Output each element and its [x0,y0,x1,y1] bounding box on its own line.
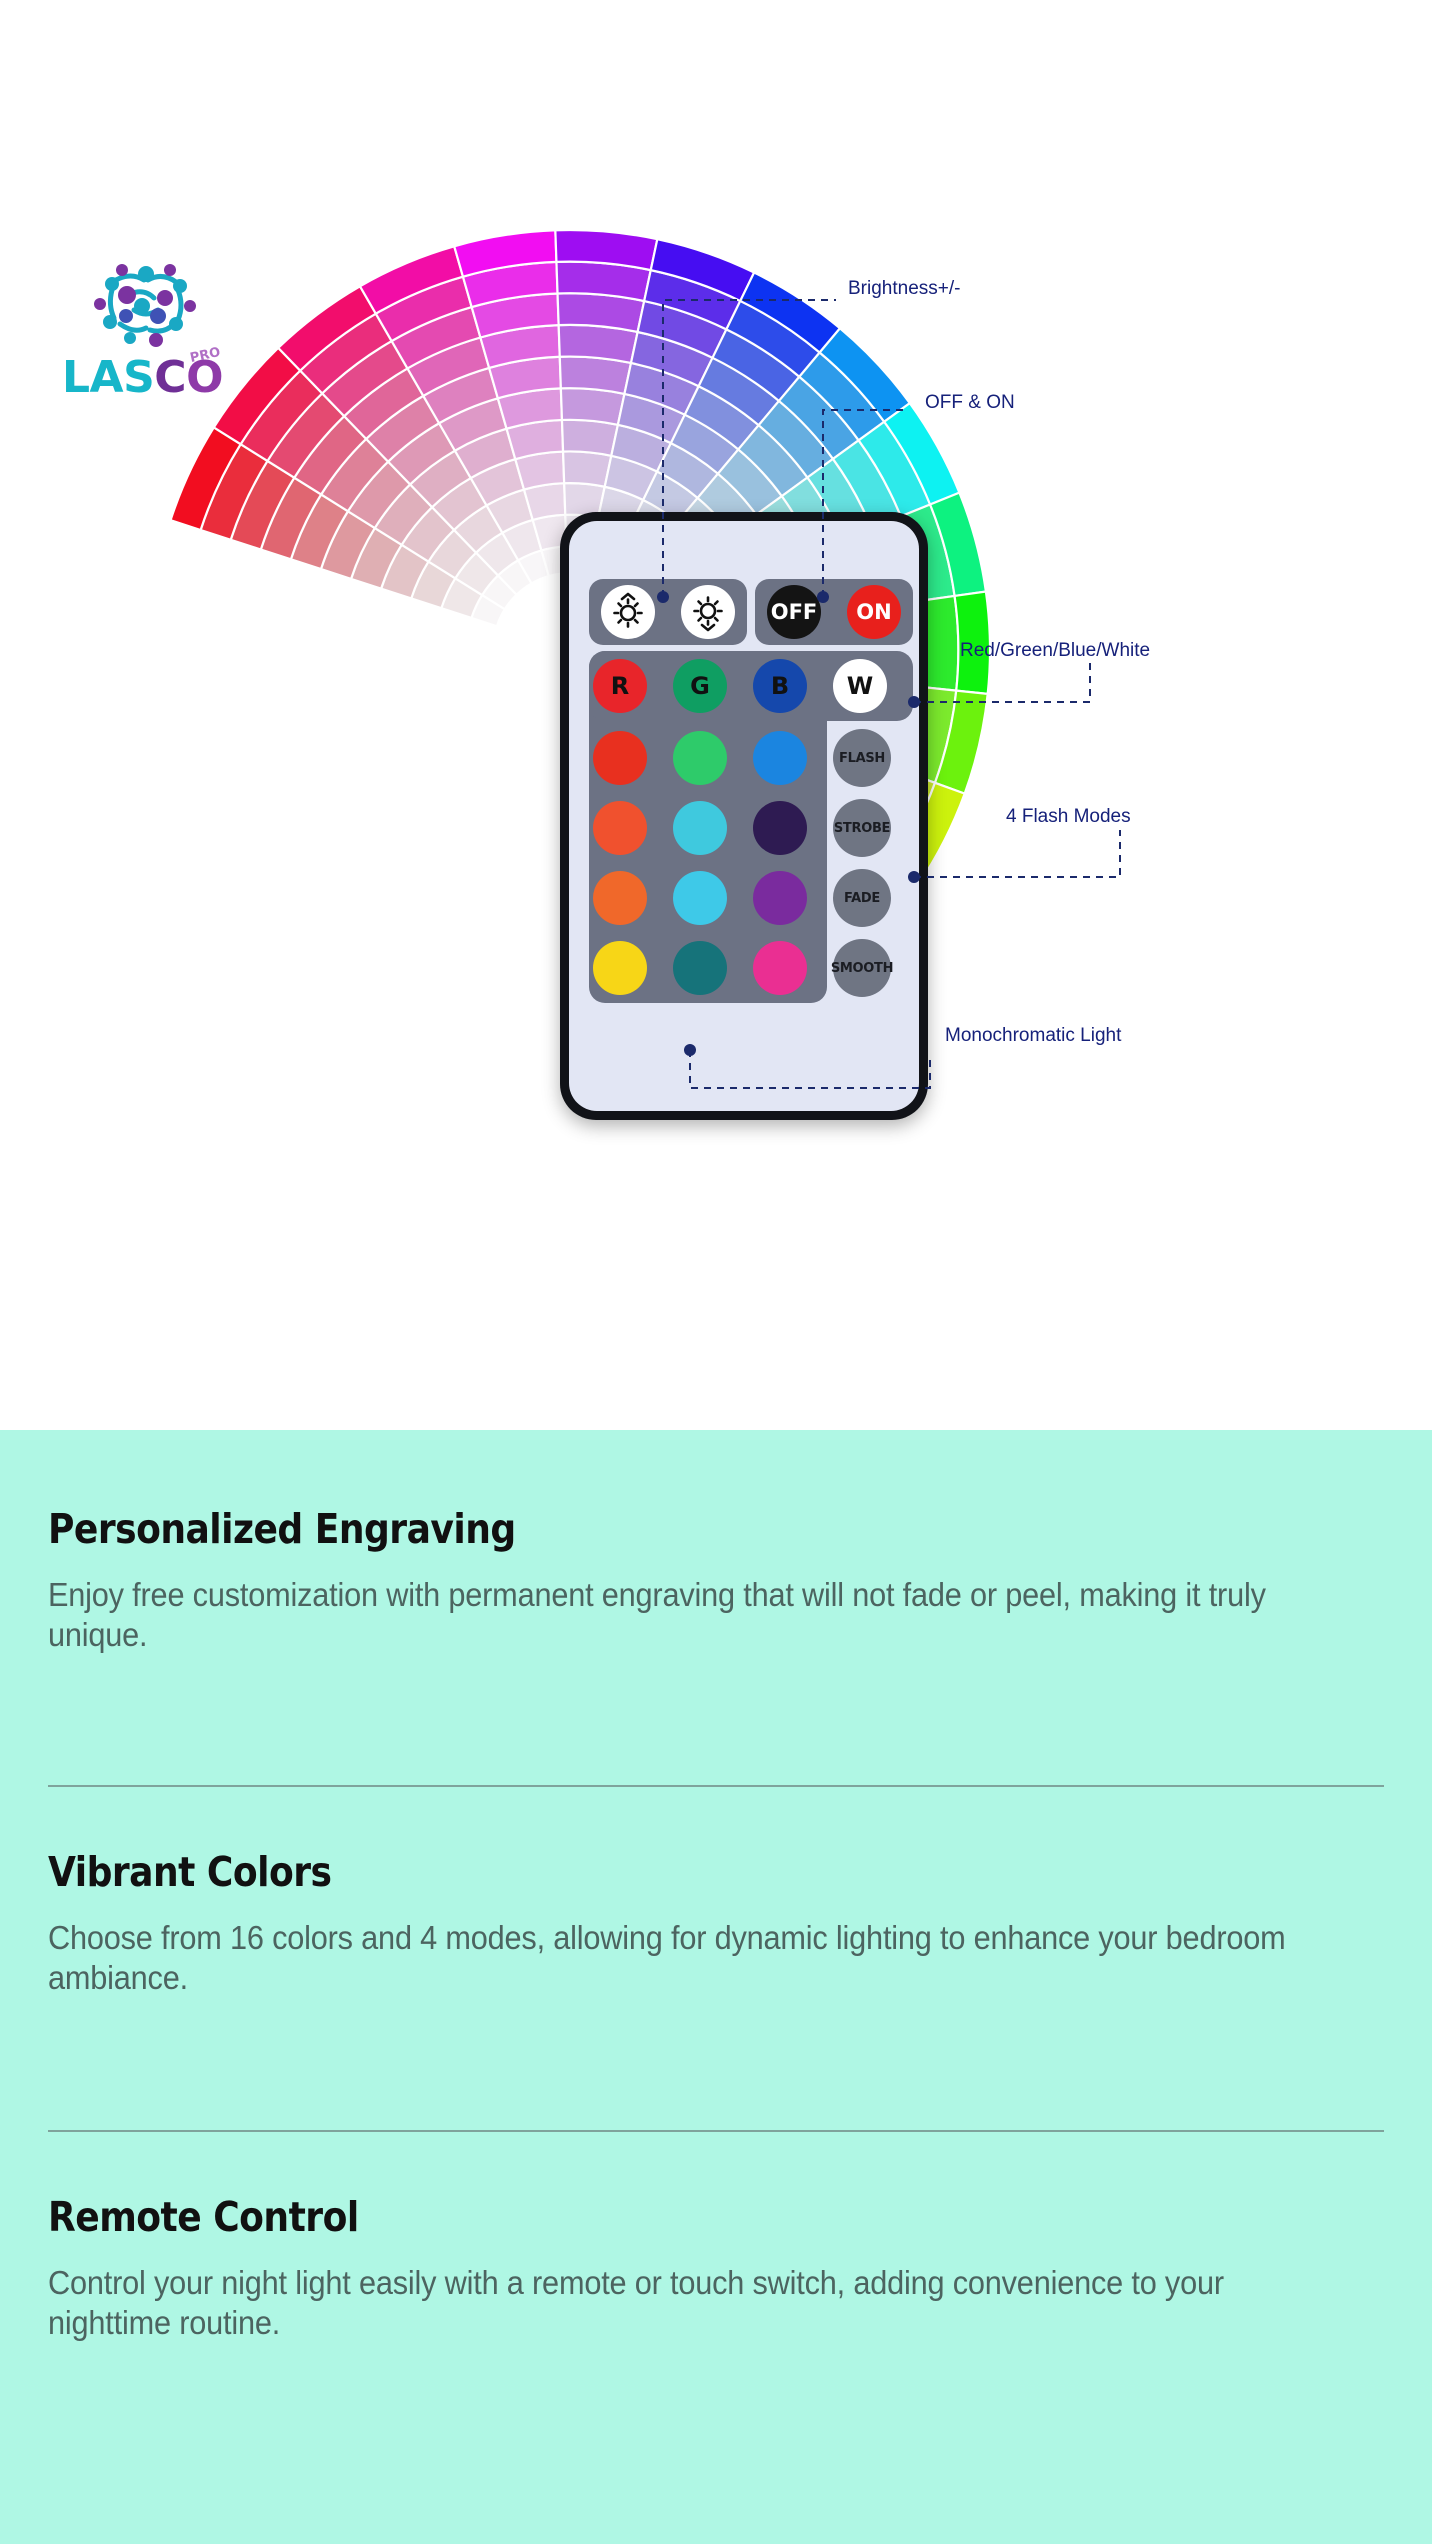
feature-title: Remote Control [48,2193,1224,2241]
color-button-g[interactable]: G [673,659,727,713]
color-swatch-button[interactable] [673,871,727,925]
feature-body: Choose from 16 colors and 4 modes, allow… [48,1918,1290,1999]
remote-button-layer: RGBWFLASHSTROBEFADESMOOTH [569,521,919,1111]
color-swatch-button[interactable] [753,871,807,925]
feature-item: Personalized Engraving Enjoy free custom… [48,1505,1384,1656]
color-swatch-button[interactable] [593,801,647,855]
color-swatch-button[interactable] [593,941,647,995]
color-swatch-button[interactable] [753,731,807,785]
color-swatch-button[interactable] [753,801,807,855]
mode-button-smooth[interactable]: SMOOTH [833,939,891,997]
product-feature-page: LASCO PRO [0,0,1432,2544]
mode-button-flash[interactable]: FLASH [833,729,891,787]
section-divider [48,1785,1384,1787]
feature-item: Remote Control Control your night light … [48,2193,1384,2344]
feature-body: Control your night light easily with a r… [48,2263,1290,2344]
remote-faceplate: OFF ON RGBWFLASHSTROBEFADESMOOTH [569,521,919,1111]
feature-title: Personalized Engraving [48,1505,1224,1553]
color-swatch-button[interactable] [673,801,727,855]
rgb-remote-control[interactable]: OFF ON RGBWFLASHSTROBEFADESMOOTH [560,512,928,1120]
color-swatch-button[interactable] [593,871,647,925]
color-button-w[interactable]: W [833,659,887,713]
mode-button-strobe[interactable]: STROBE [833,799,891,857]
color-button-b[interactable]: B [753,659,807,713]
callout-off-on: OFF & ON [925,392,1015,414]
color-swatch-button[interactable] [673,731,727,785]
color-swatch-button[interactable] [593,731,647,785]
section-divider [48,2130,1384,2132]
color-button-r[interactable]: R [593,659,647,713]
brand-las: LAS [62,352,154,403]
callout-brightness: Brightness+/- [848,278,960,300]
feature-item: Vibrant Colors Choose from 16 colors and… [48,1848,1384,1999]
callout-flash-modes: 4 Flash Modes [1006,806,1131,828]
color-swatch-button[interactable] [753,941,807,995]
feature-body: Enjoy free customization with permanent … [48,1575,1290,1656]
features-section: Personalized Engraving Enjoy free custom… [0,1430,1432,2544]
callout-monochromatic: Monochromatic Light [945,1025,1121,1047]
feature-title: Vibrant Colors [48,1848,1224,1896]
mode-button-fade[interactable]: FADE [833,869,891,927]
hero-section: LASCO PRO [0,0,1432,1430]
color-swatch-button[interactable] [673,941,727,995]
callout-rgbw: Red/Green/Blue/White [960,640,1150,662]
